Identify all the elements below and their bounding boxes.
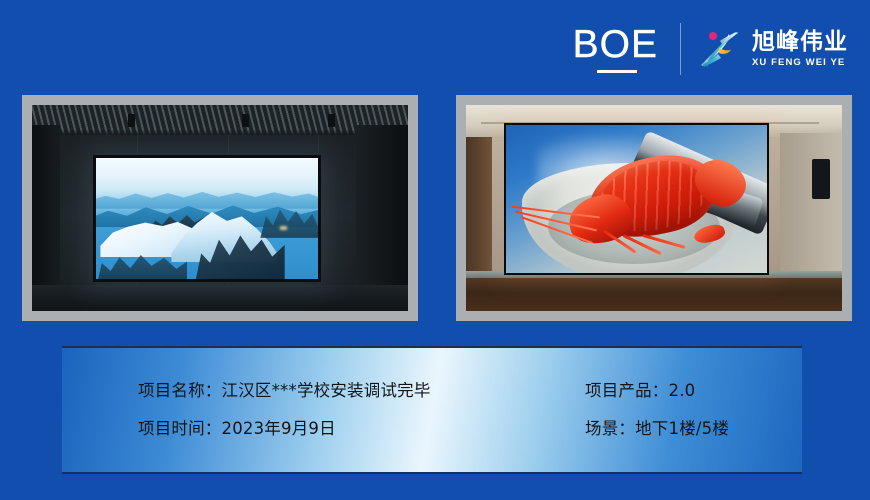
floor	[32, 285, 408, 311]
photo-right	[466, 105, 842, 311]
photo-frame-right	[456, 95, 852, 321]
ceiling-fixture	[128, 114, 135, 127]
photo-frame-left	[22, 95, 418, 321]
brand-divider	[680, 23, 681, 75]
slatted-ceiling	[32, 105, 408, 135]
ceiling-fixture	[328, 114, 335, 127]
partner-lockup: 旭峰伟业 XU FENG WEI YE	[697, 28, 848, 70]
left-side-wall	[32, 125, 60, 311]
brand-lockup: BOE	[573, 18, 848, 80]
left-wood-panel	[466, 137, 492, 273]
info-project-date: 项目时间：2023年9月9日	[138, 418, 585, 440]
ceiling-fixture	[242, 114, 249, 127]
boe-logo: BOE	[573, 25, 680, 73]
boe-wordmark: BOE	[573, 25, 658, 65]
slide-root: BOE	[0, 0, 870, 500]
lobster-image	[506, 125, 767, 273]
sun-glint	[280, 226, 287, 230]
partner-brand-cn: 旭峰伟业	[752, 30, 848, 55]
led-screen-mountain	[93, 155, 321, 282]
boe-underline-accent	[597, 70, 637, 73]
led-screen-lobster	[504, 123, 769, 275]
partner-brand-en: XU FENG WEI YE	[752, 57, 848, 69]
distant-ridge	[96, 187, 318, 209]
right-side-wall	[356, 125, 408, 311]
info-project-product: 项目产品：2.0	[585, 380, 802, 402]
xufeng-x-bird-logo-icon	[697, 28, 743, 70]
wall-speaker	[812, 159, 830, 199]
partner-text-block: 旭峰伟业 XU FENG WEI YE	[752, 30, 848, 69]
info-project-scene: 场景：地下1楼/5楼	[585, 418, 802, 440]
project-info-panel: 项目名称：江汉区***学校安装调试完毕 项目产品：2.0 项目时间：2023年9…	[62, 346, 802, 474]
mountain-landscape-image	[96, 158, 318, 279]
info-project-name: 项目名称：江汉区***学校安装调试完毕	[138, 380, 585, 402]
wood-floor	[466, 271, 842, 311]
right-wall	[780, 133, 842, 285]
photo-left	[32, 105, 408, 311]
project-info-grid: 项目名称：江汉区***学校安装调试完毕 项目产品：2.0 项目时间：2023年9…	[62, 348, 802, 472]
